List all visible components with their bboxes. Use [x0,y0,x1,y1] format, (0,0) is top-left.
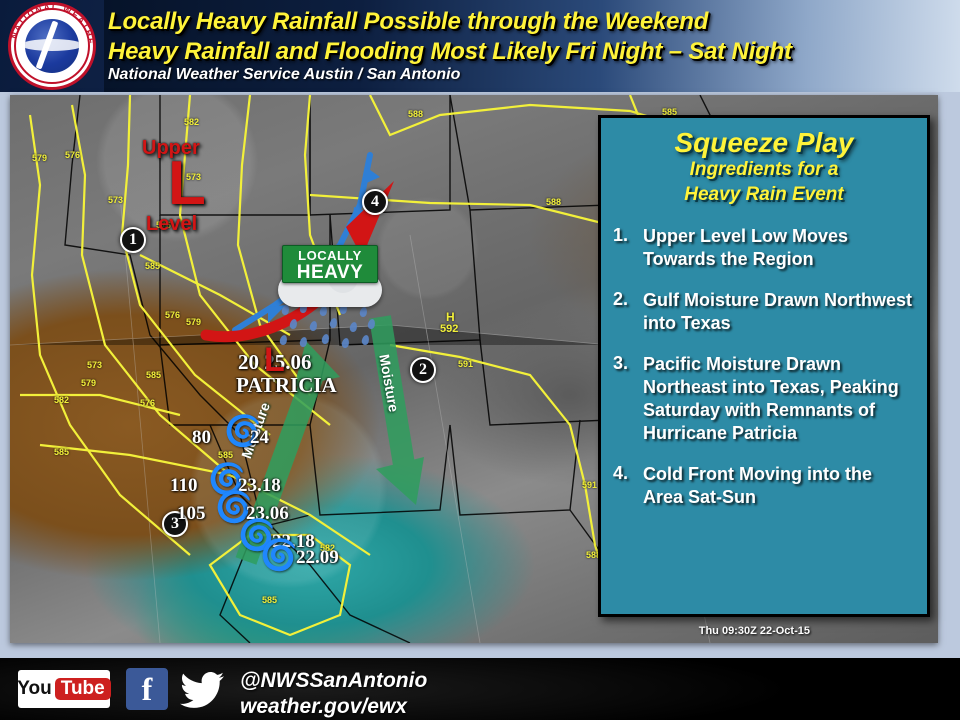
contour-label: 585 [262,595,277,605]
ingredient-number: 1. [613,225,643,271]
ingredient-text: Upper Level Low Moves Towards the Region [643,225,915,271]
hurricane-symbol-icon: 🌀 [260,543,286,573]
contour-label: 585 [145,261,160,271]
ingredient-item: 4. Cold Front Moving into the Area Sat-S… [613,463,915,509]
upper-level-low-label-level: Level [146,213,197,236]
high-pressure-symbol: H [446,310,455,324]
contour-label: 585 [146,370,161,380]
social-footer: You Tube f @NWSSanAntonio weather.gov/ew… [0,658,960,720]
header-banner: NATIONAL WEATHER SERVICE Locally Heavy R… [0,0,960,92]
locally-heavy-graphic: LOCALLY HEAVY [272,245,382,345]
twitter-handle: @NWSSanAntonio [240,668,427,694]
facebook-icon[interactable]: f [126,668,168,710]
ingredient-item: 1. Upper Level Low Moves Towards the Reg… [613,225,915,271]
ingredient-number: 2. [613,289,643,335]
ingredient-text: Gulf Moisture Drawn Northwest into Texas [643,289,915,335]
track-time-5: 22.09 [296,547,339,569]
upper-level-low-letter: L [168,153,206,215]
ingredient-item: 2. Gulf Moisture Drawn Northwest into Te… [613,289,915,335]
contour-label: 585 [218,450,233,460]
track-wind-1: 80 [192,427,211,449]
ingredient-text: Cold Front Moving into the Area Sat-Sun [643,463,915,509]
hurricane-symbol-icon: 🌀 [224,419,250,449]
contour-label: 582 [54,395,69,405]
ingredient-text: Pacific Moisture Drawn Northeast into Te… [643,353,915,445]
youtube-label-tube: Tube [55,678,111,700]
contour-label: 573 [108,195,123,205]
callout-badge-1[interactable]: 1 [120,227,146,253]
contour-label: 573 [87,360,102,370]
contour-label: 579 [32,153,47,163]
ingredient-item: 3. Pacific Moisture Drawn Northeast into… [613,353,915,445]
track-time-1: 24 [250,427,269,449]
contour-label: 588 [408,109,423,119]
contour-label: 576 [140,398,155,408]
twitter-icon[interactable] [180,670,226,710]
contour-label: 579 [186,317,201,327]
track-wind-2: 110 [170,475,197,497]
callout-badge-2[interactable]: 2 [410,357,436,383]
youtube-icon[interactable]: You Tube [18,670,110,708]
track-wind-3: 105 [177,503,206,525]
map-timestamp: Thu 09:30Z 22-Oct-15 [699,625,810,637]
locally-heavy-banner: LOCALLY HEAVY [282,245,378,283]
youtube-label-you: You [17,678,51,700]
high-pressure-value: 592 [440,323,458,335]
squeeze-play-panel: Squeeze Play Ingredients for a Heavy Rai… [598,115,930,617]
contour-label: 591 [582,480,597,490]
raindrops-icon [276,303,384,355]
social-handle-block: @NWSSanAntonio weather.gov/ewx [240,668,427,720]
callout-badge-4[interactable]: 4 [362,189,388,215]
locally-heavy-text-locally: LOCALLY [283,249,377,262]
contour-label: 576 [65,150,80,160]
contour-label: 576 [165,310,180,320]
nws-logo-icon: NATIONAL WEATHER SERVICE [4,2,100,90]
contour-label: 591 [458,359,473,369]
contour-label: 579 [81,378,96,388]
ingredient-number: 4. [613,463,643,509]
panel-title: Squeeze Play [613,128,915,157]
contour-label: 582 [184,117,199,127]
storm-name-label: PATRICIA [236,373,337,398]
panel-subtitle-line-2: Heavy Rain Event [613,184,915,207]
office-name: National Weather Service Austin / San An… [108,66,460,84]
headline-line-1: Locally Heavy Rainfall Possible through … [108,8,708,36]
weather-graphic: NATIONAL WEATHER SERVICE Locally Heavy R… [0,0,960,720]
contour-label: 588 [546,197,561,207]
contour-label: 585 [54,447,69,457]
locally-heavy-text-heavy: HEAVY [283,263,377,282]
panel-subtitle-line-1: Ingredients for a [613,159,915,182]
ingredients-list: 1. Upper Level Low Moves Towards the Reg… [613,225,915,509]
headline-line-2: Heavy Rainfall and Flooding Most Likely … [108,38,792,66]
website-url: weather.gov/ewx [240,694,427,720]
ingredient-number: 3. [613,353,643,445]
